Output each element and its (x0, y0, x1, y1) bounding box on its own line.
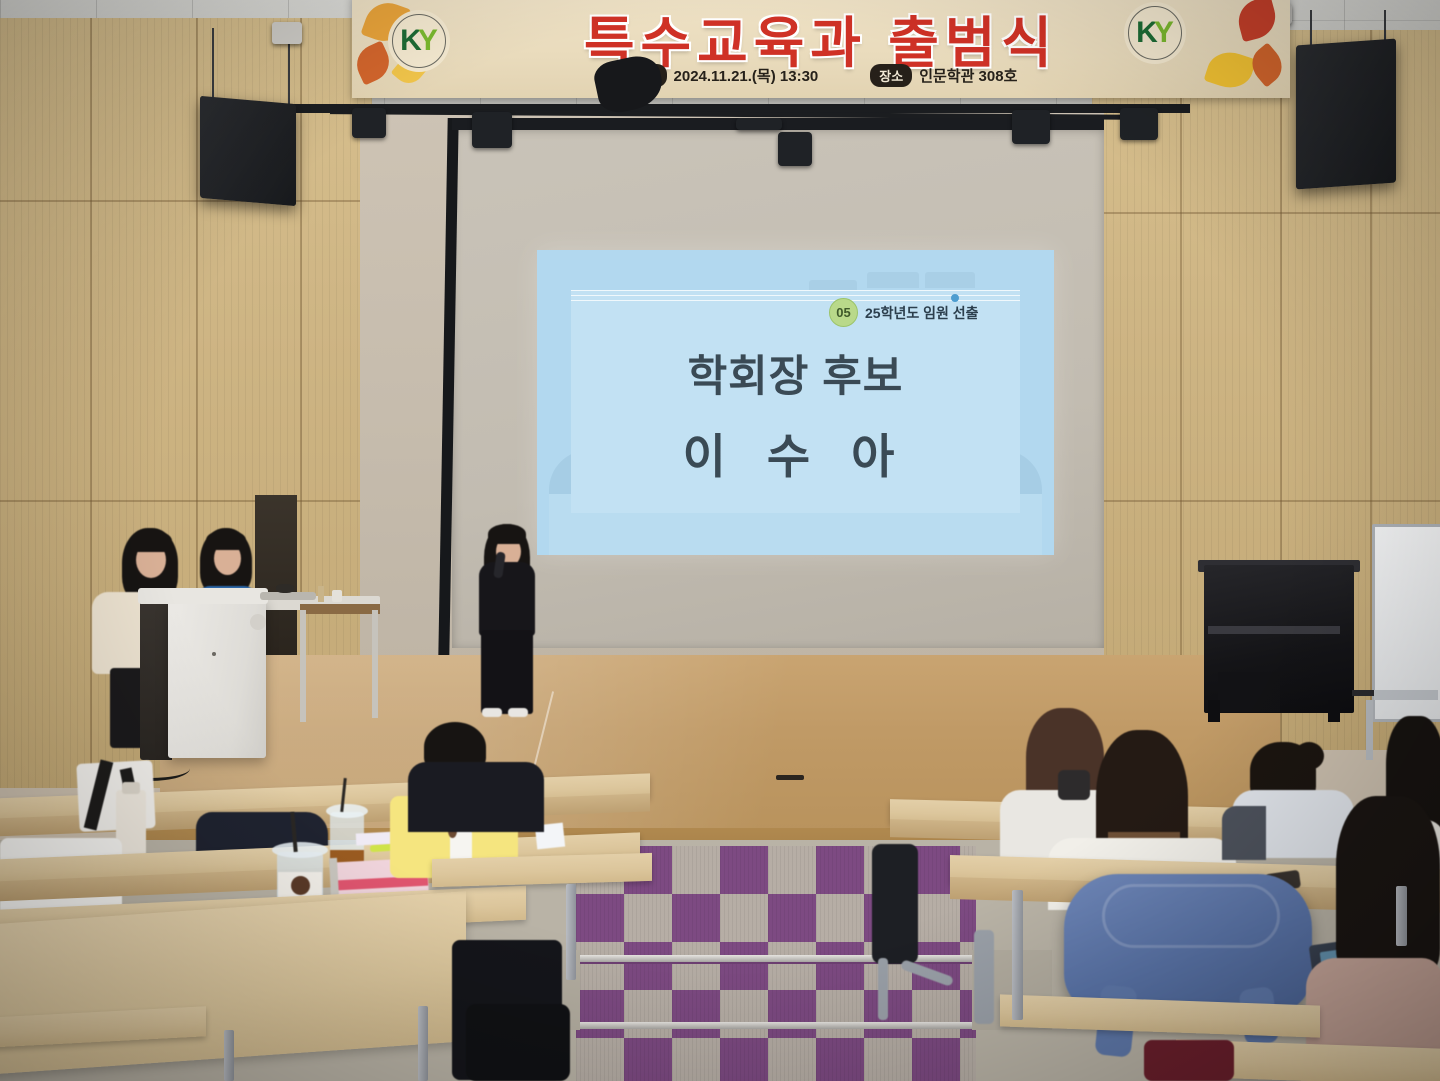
lectern-dot (212, 652, 216, 656)
ceiling-light-fixture (272, 22, 302, 44)
person-bangs (130, 530, 172, 552)
face-mask (1058, 770, 1090, 800)
presenter-shoe (482, 708, 502, 717)
desk-leg (224, 1030, 234, 1081)
slide-badge-number: 05 (829, 298, 858, 327)
event-banner: K Y K Y 특수교육과 출범식 일시 2024.11.21.(목) 13:3… (352, 0, 1290, 98)
stage-spotlight (1012, 110, 1050, 144)
banner-date-value: 2024.11.21.(목) 13:30 (674, 65, 819, 86)
hanging-speaker-left (200, 96, 296, 206)
chair-post (974, 930, 994, 1024)
lectern-shelf (260, 592, 316, 600)
cup-brand-mark (291, 876, 310, 895)
desk-leg (418, 1006, 428, 1081)
piano-bench (1218, 672, 1280, 712)
slide-badge-text: 25학년도 임원 선출 (865, 303, 979, 323)
panel-seam (1092, 212, 1440, 214)
slide-badge: 05 25학년도 임원 선출 (829, 298, 979, 327)
table-item (332, 590, 342, 602)
stage-spotlight (472, 112, 512, 148)
whiteboard-marker (1352, 690, 1374, 696)
presenter-legs (481, 630, 533, 714)
ceiling-projector (778, 132, 812, 166)
side-table-leg (300, 610, 306, 722)
banner-meta: 일시 2024.11.21.(목) 13:30 장소 인문학관 308호 (352, 64, 1290, 87)
presenter-torso (479, 562, 535, 636)
piano-keyboard-cover (1208, 626, 1340, 634)
person-hair-bun (1294, 742, 1324, 770)
step-nosing (576, 1022, 976, 1029)
bottle-cap (122, 782, 140, 794)
person-bangs (206, 530, 246, 550)
aisle-chair-back (872, 844, 918, 964)
desk-leg (1396, 886, 1407, 946)
slide-tab-b (867, 272, 919, 288)
banner-place-label: 장소 (870, 64, 912, 87)
presenter-shoe (508, 708, 528, 717)
projected-slide: 05 25학년도 임원 선출 학회장 후보 이 수 아 (537, 250, 1054, 555)
piano-leg (1328, 700, 1340, 722)
whiteboard-tray (1374, 690, 1438, 700)
cup-dome-lid (272, 842, 328, 858)
projection-screen: 05 25학년도 임원 선출 학회장 후보 이 수 아 (452, 128, 1104, 648)
lectern-top (138, 588, 268, 604)
projector-mount (736, 118, 782, 130)
stage-spotlight (1120, 108, 1158, 140)
piano-leg (1208, 700, 1220, 722)
side-table-leg (372, 610, 378, 718)
auditorium-scene: 05 25학년도 임원 선출 학회장 후보 이 수 아 (0, 0, 1440, 1081)
panel-seam (1180, 30, 1182, 750)
panel-seam (0, 500, 372, 502)
stage-spotlight (352, 108, 386, 138)
desk-leg (566, 884, 576, 980)
floor-socket (776, 775, 804, 780)
person-jacket (1222, 806, 1266, 860)
table-item (318, 586, 324, 602)
person-hair (1336, 796, 1440, 978)
presenter-bangs (488, 524, 526, 544)
cup-dome-lid (326, 804, 368, 818)
microphone-on-lectern (276, 584, 294, 593)
slide-rule (571, 290, 1020, 291)
slide-tab-c (925, 272, 975, 288)
backpack-pocket-seam (1102, 884, 1280, 948)
side-table-object (300, 604, 380, 614)
hanging-speaker-right (1296, 39, 1396, 190)
seated-person-legs (466, 1004, 570, 1081)
slide-title: 학회장 후보 (537, 342, 1054, 404)
banner-place-group: 장소 인문학관 308호 (870, 64, 1017, 87)
panel-seam (90, 18, 92, 788)
desk-leg (1012, 890, 1023, 1020)
person-torso (408, 762, 544, 832)
banner-place-value: 인문학관 308호 (919, 65, 1017, 86)
panel-seam (1092, 500, 1440, 502)
slide-candidate-name: 이 수 아 (537, 418, 1054, 487)
whiteboard-stand-leg (1366, 700, 1373, 760)
panel-seam (0, 200, 372, 202)
lectern-knob (250, 614, 266, 630)
seated-person-clothing (1144, 1040, 1234, 1081)
chair-post (878, 958, 888, 1020)
